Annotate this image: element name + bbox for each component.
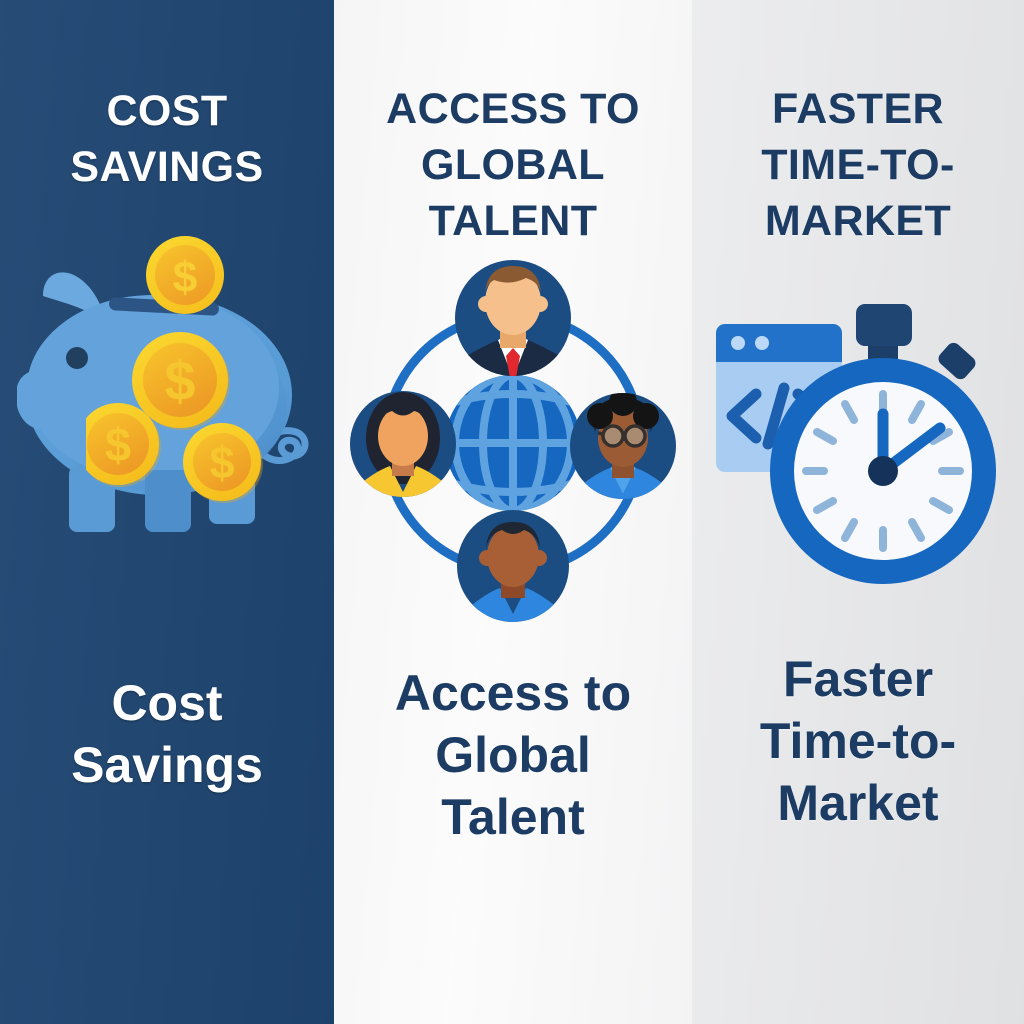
- globe-icon: [443, 373, 583, 513]
- panel-caption-faster-time-to-market: Faster Time-to- Market: [748, 648, 968, 834]
- gold-coin-small: $: [146, 236, 224, 314]
- avatar-left-woman: [350, 391, 456, 500]
- window-dot-2: [755, 336, 769, 350]
- avatar-right-person-with-glasses: [570, 388, 676, 502]
- pig-snout-icon: [17, 370, 64, 430]
- center-pin: [868, 456, 898, 486]
- panel-access-to-global-talent: ACCESS TO GLOBAL TALENT: [334, 0, 692, 1024]
- global-talent-svg: [348, 256, 678, 626]
- panel-faster-time-to-market: FASTER TIME-TO- MARKET: [692, 0, 1024, 1024]
- panel-heading-access-to-global-talent: ACCESS TO GLOBAL TALENT: [372, 82, 654, 250]
- svg-text:$: $: [105, 418, 131, 471]
- panel-caption-cost-savings: Cost Savings: [59, 672, 275, 796]
- panel-heading-faster-time-to-market: FASTER TIME-TO- MARKET: [747, 82, 969, 250]
- stopwatch-with-code-window-illustration: [708, 296, 1008, 596]
- gold-coin-small: $: [183, 423, 263, 503]
- panel-caption-access-to-global-talent: Access to Global Talent: [383, 662, 643, 848]
- svg-text:$: $: [173, 253, 197, 302]
- panel-heading-cost-savings: COST SAVINGS: [56, 84, 277, 196]
- avatar-top-businessman: [455, 260, 571, 378]
- svg-text:$: $: [164, 349, 195, 412]
- svg-text:$: $: [209, 437, 234, 488]
- falling-coins-group: $ $ $: [86, 330, 346, 540]
- stopwatch-svg: [708, 296, 1008, 596]
- avatar-bottom-man: [457, 510, 569, 624]
- global-talent-network-illustration: [348, 256, 678, 626]
- pig-eye-icon: [66, 347, 88, 369]
- window-dot-1: [731, 336, 745, 350]
